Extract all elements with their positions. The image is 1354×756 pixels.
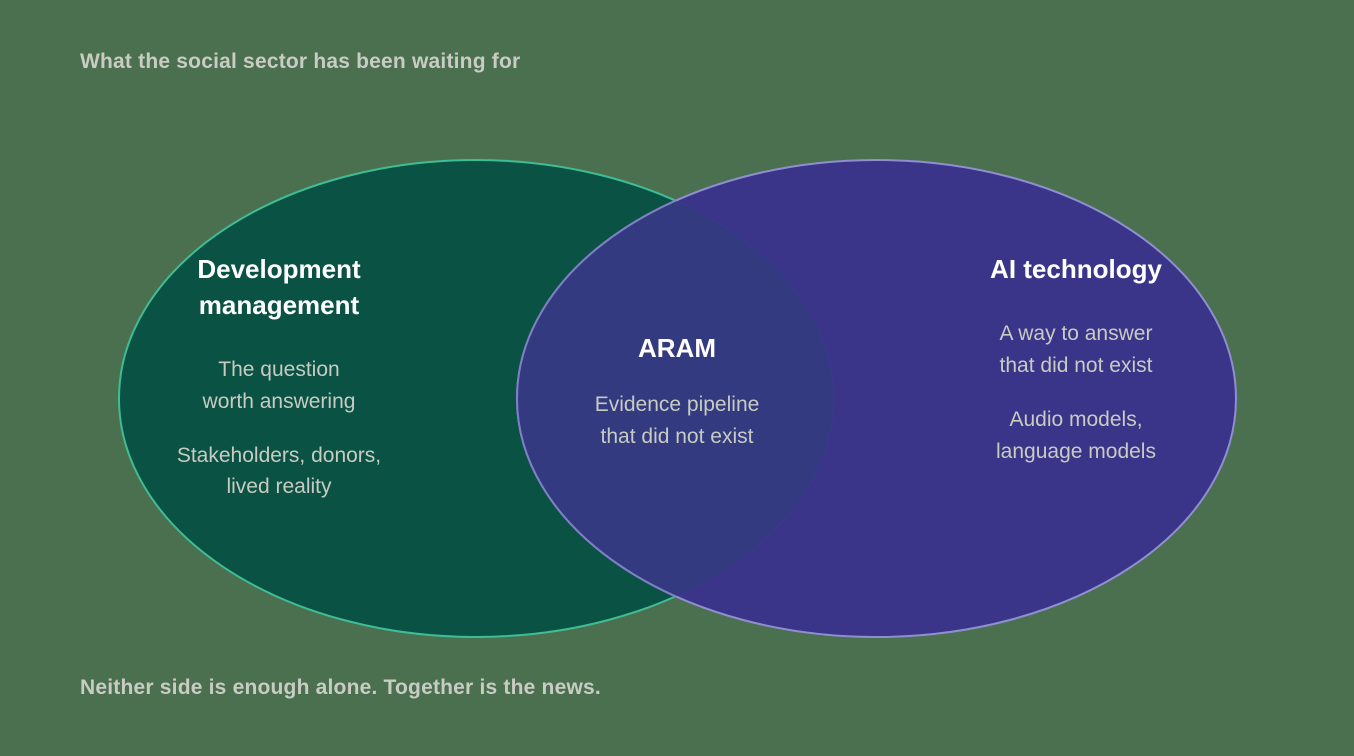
venn-diagram	[0, 0, 1354, 756]
page-caption: Neither side is enough alone. Together i…	[80, 676, 601, 700]
diagram-canvas: What the social sector has been waiting …	[0, 0, 1354, 756]
